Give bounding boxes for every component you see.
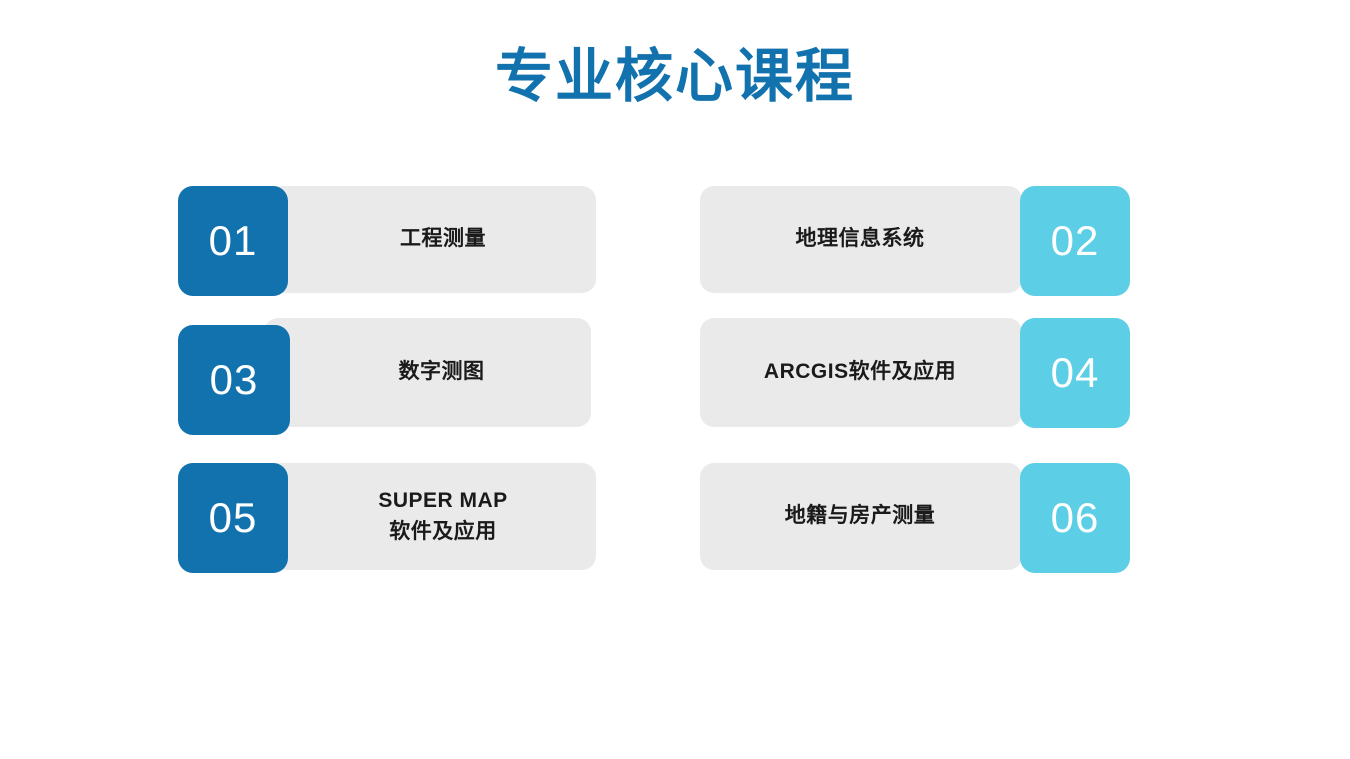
course-label: 地理信息系统 [700, 186, 1020, 293]
course-label-line: 软件及应用 [389, 517, 497, 547]
slide-canvas: 专业核心课程 01 工程测量 地理信息系统 02 03 数字测图 ARC [0, 0, 1350, 759]
course-label-line: 地籍与房产测量 [785, 501, 936, 531]
course-number-badge: 04 [1020, 318, 1130, 428]
course-number-text: 04 [1051, 349, 1100, 397]
course-number-badge: 05 [178, 463, 288, 573]
course-number-text: 06 [1051, 494, 1100, 542]
course-number-badge: 01 [178, 186, 288, 296]
course-label: 地籍与房产测量 [700, 463, 1020, 570]
course-label-line: SUPER MAP [378, 486, 507, 516]
course-number-text: 03 [210, 356, 259, 404]
course-label: SUPER MAP 软件及应用 [290, 463, 596, 570]
course-label-line: 工程测量 [400, 224, 486, 254]
course-label-line: 地理信息系统 [796, 224, 925, 254]
course-number-text: 02 [1051, 217, 1100, 265]
course-number-text: 01 [209, 217, 258, 265]
course-label: 数字测图 [292, 318, 591, 427]
course-number-badge: 03 [178, 325, 290, 435]
course-label: 工程测量 [290, 186, 596, 293]
page-title: 专业核心课程 [0, 44, 1350, 111]
course-number-text: 05 [209, 494, 258, 542]
course-label-line: 数字测图 [399, 357, 485, 387]
course-number-badge: 02 [1020, 186, 1130, 296]
course-number-badge: 06 [1020, 463, 1130, 573]
course-label: ARCGIS软件及应用 [700, 318, 1020, 427]
course-label-line: ARCGIS软件及应用 [764, 357, 956, 387]
